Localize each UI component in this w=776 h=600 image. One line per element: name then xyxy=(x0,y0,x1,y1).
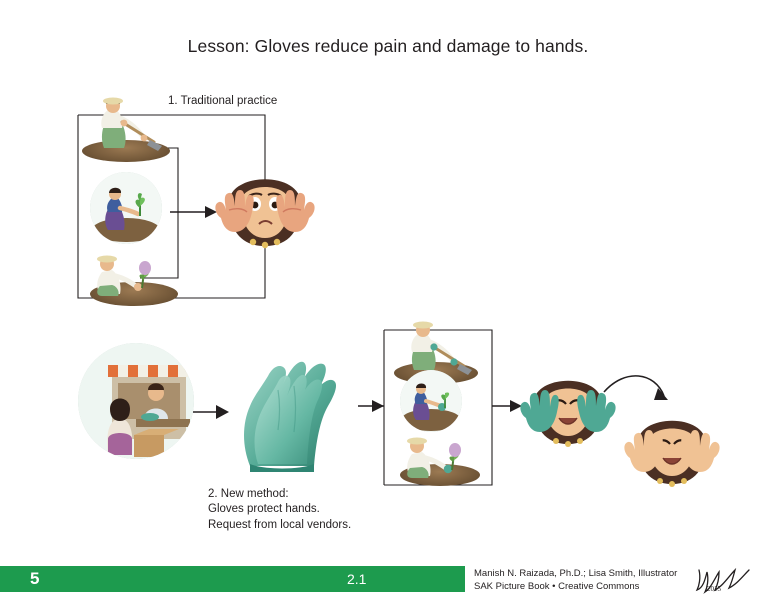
planting-seedling-gloved-circle xyxy=(400,370,462,432)
footer-bar xyxy=(0,566,465,592)
signature-year: 2015 xyxy=(707,585,721,593)
footer-page-number: 5 xyxy=(30,569,39,589)
farmer-weeding-bare-hands xyxy=(84,246,184,308)
credit-line-license: SAK Picture Book • Creative Commons xyxy=(474,581,639,592)
footer-section-number: 2.1 xyxy=(347,571,366,587)
shop-vendor-circle xyxy=(78,343,194,459)
healthy-hands-face xyxy=(616,396,728,510)
farmer-weeding-gloved xyxy=(396,430,488,488)
page-title: Lesson: Gloves reduce pain and damage to… xyxy=(0,36,776,57)
gloved-hands-face xyxy=(512,356,624,470)
teal-gloves-pair xyxy=(228,346,356,472)
sore-bare-hands-face xyxy=(205,152,325,274)
new-method-label: 2. New method: Gloves protect hands. Req… xyxy=(208,487,351,533)
page-canvas: Lesson: Gloves reduce pain and damage to… xyxy=(0,0,776,600)
credit-line-authors: Manish N. Raizada, Ph.D.; Lisa Smith, Il… xyxy=(474,568,677,579)
planting-seedling-circle xyxy=(90,172,162,244)
illustrator-signature: 2015 xyxy=(695,566,755,598)
traditional-practice-label: 1. Traditional practice xyxy=(168,94,277,109)
farmer-hoeing-top xyxy=(78,92,176,164)
